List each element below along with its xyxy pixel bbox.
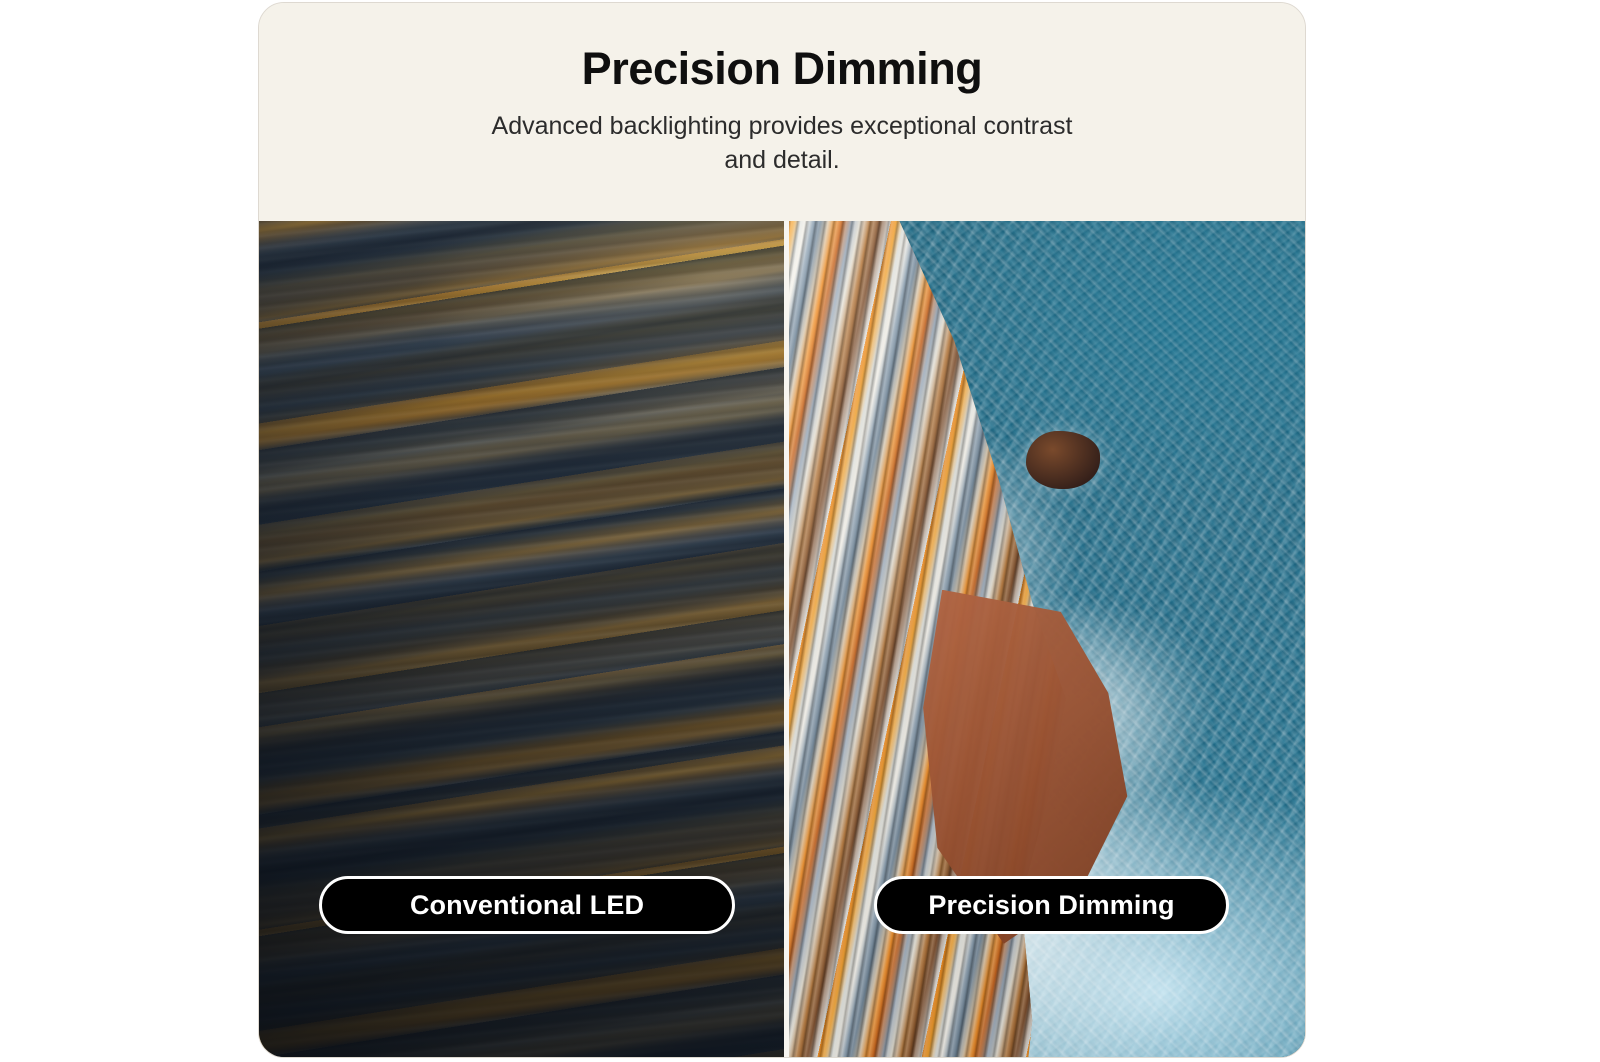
page-title: Precision Dimming (582, 45, 983, 92)
badge-precision-dimming: Precision Dimming (874, 876, 1229, 934)
card-subtitle: Advanced backlighting provides exception… (472, 110, 1092, 177)
image-comparison: Conventional LED Precision Dimming (259, 221, 1305, 1058)
card-header: Precision Dimming Advanced backlighting … (259, 3, 1305, 221)
comparison-pane-precision-dimming: Precision Dimming (789, 221, 1305, 1058)
small-rock-icon (1026, 431, 1100, 489)
screenshot-stage: Precision Dimming Advanced backlighting … (0, 0, 1600, 1062)
badge-conventional-led: Conventional LED (319, 876, 735, 934)
precision-dimming-card: Precision Dimming Advanced backlighting … (258, 2, 1306, 1058)
comparison-pane-conventional-led: Conventional LED (259, 221, 784, 1058)
badge-precision-dimming-label: Precision Dimming (928, 890, 1174, 921)
badge-conventional-led-label: Conventional LED (410, 890, 644, 921)
